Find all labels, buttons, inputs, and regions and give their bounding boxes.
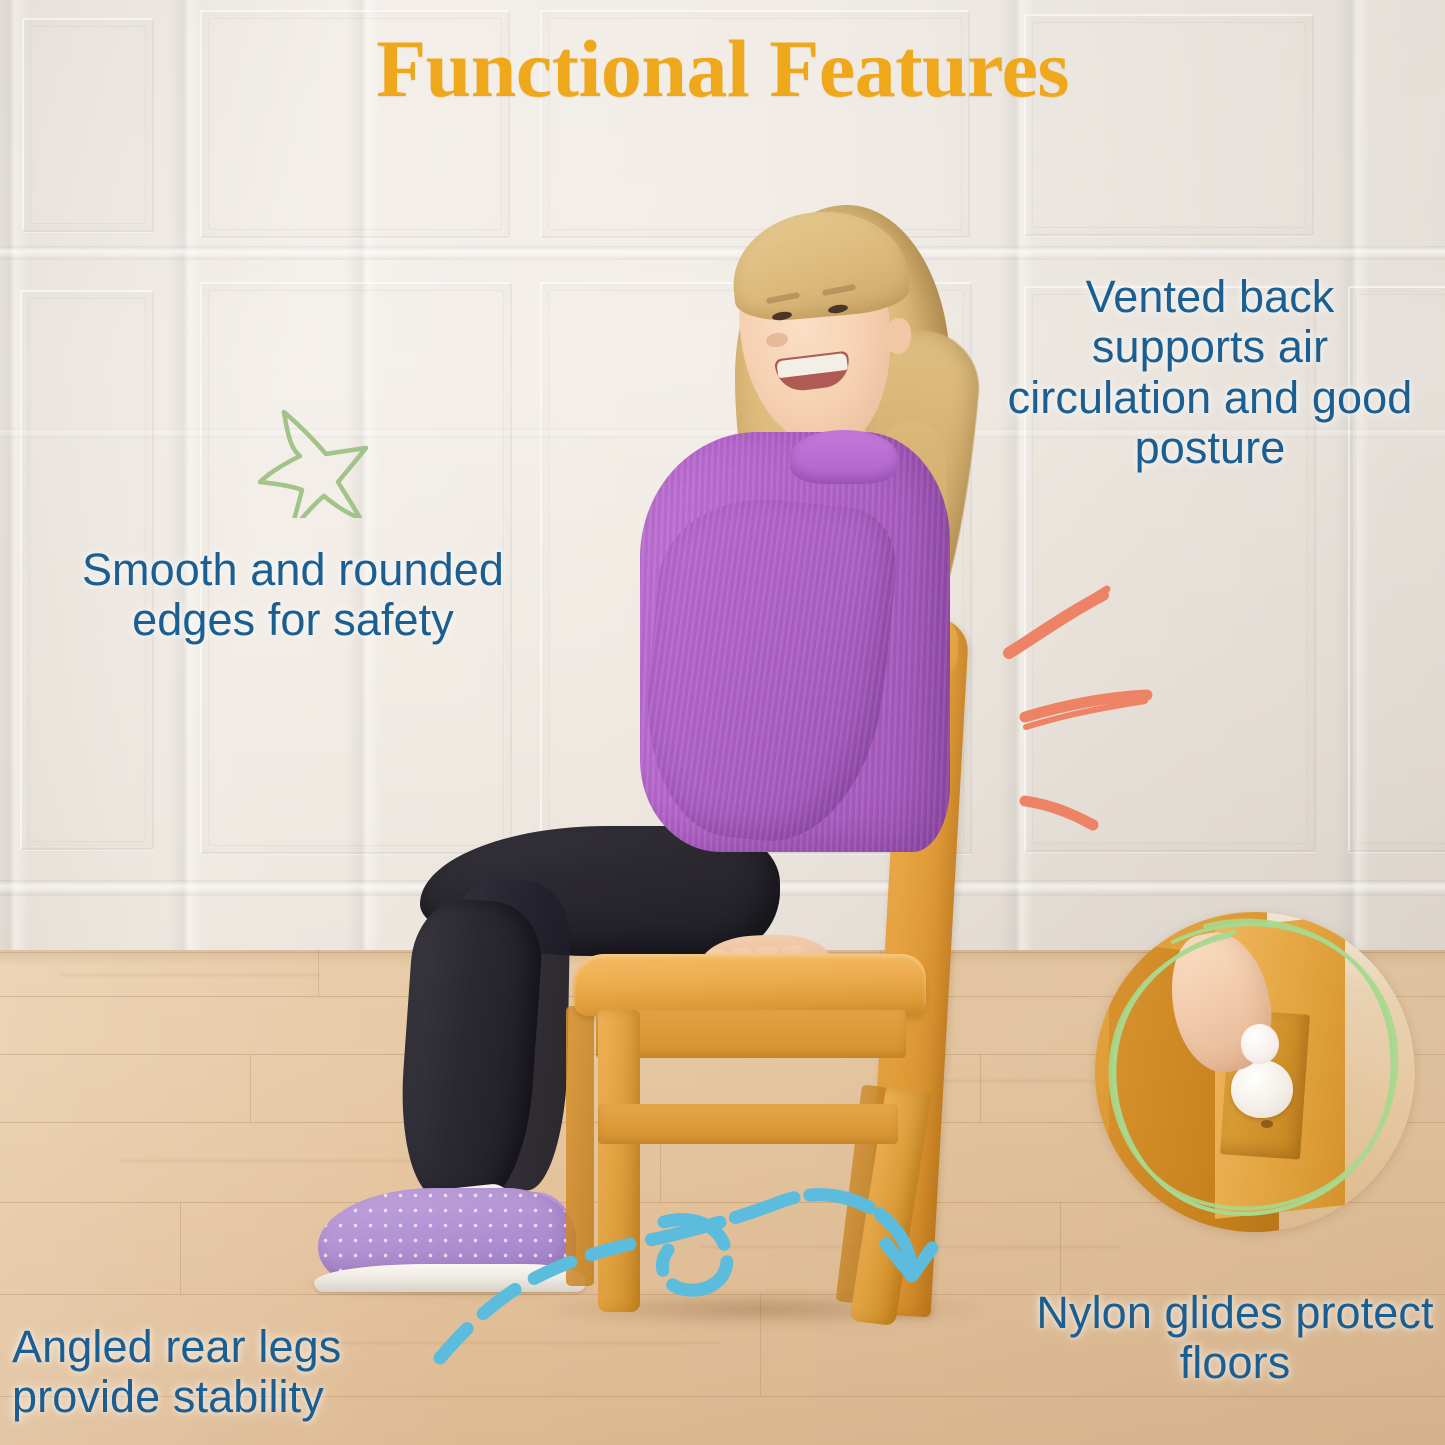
girl-arm <box>633 489 902 852</box>
page-title: Functional Features <box>0 28 1445 110</box>
chair-front-leg-far <box>566 1006 594 1286</box>
callout-smooth-edges: Smooth and rounded edges for safety <box>78 545 508 646</box>
infographic-canvas: Functional Features Vented back supports… <box>0 0 1445 1445</box>
girl-shoe-sole <box>314 1264 586 1292</box>
wall-stile <box>168 0 202 958</box>
chair-stretcher-rail <box>598 1104 898 1144</box>
nylon-glide-inset <box>1085 900 1430 1245</box>
chair-seat <box>574 954 926 1016</box>
wall-chair-rail <box>0 246 1445 260</box>
chair-seat-apron <box>596 1010 906 1058</box>
callout-angled-legs: Angled rear legs provide stability <box>12 1322 462 1423</box>
callout-nylon-glides: Nylon glides protect floors <box>1030 1288 1440 1389</box>
callout-vented-back: Vented back supports air circulation and… <box>1000 272 1420 474</box>
girl-sweater-collar <box>790 430 898 484</box>
circle-scribble-doodle-icon <box>1085 900 1430 1245</box>
chair-front-leg <box>598 1010 640 1312</box>
